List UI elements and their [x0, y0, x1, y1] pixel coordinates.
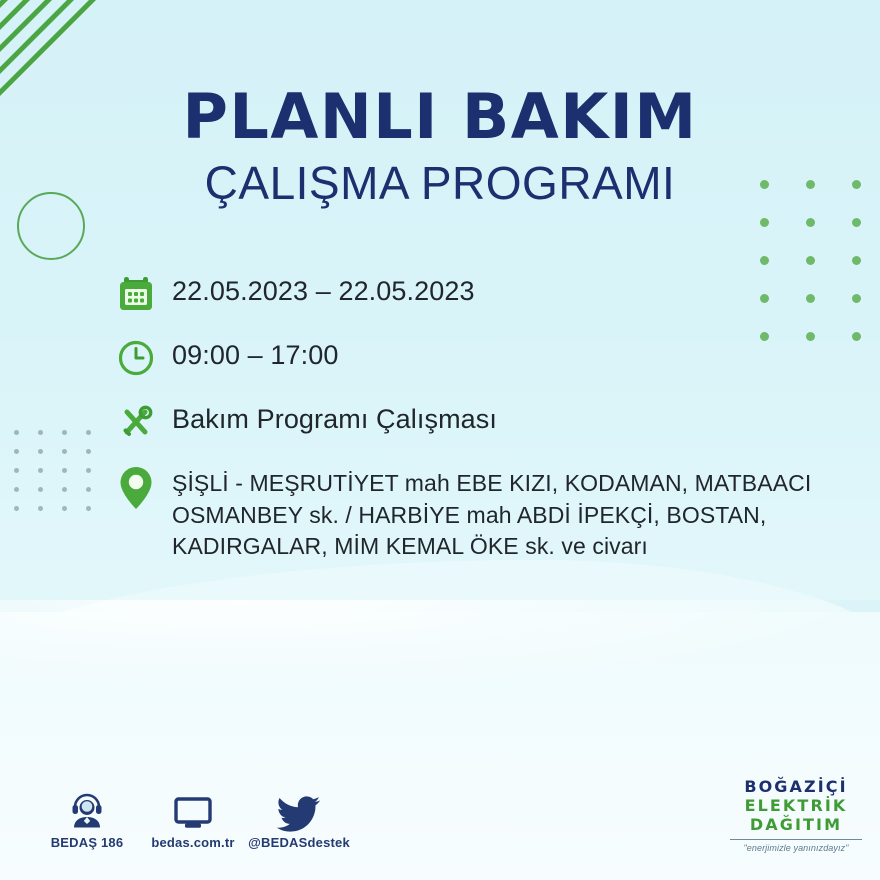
contact-phone-label: BEDAŞ 186: [51, 835, 124, 850]
logo-line-elektrik: ELEKTRİK: [726, 797, 866, 816]
calendar-icon: [116, 272, 172, 314]
title-secondary: ÇALIŞMA PROGRAMI: [0, 160, 880, 206]
call-center-agent-icon: [34, 788, 140, 834]
background-sheen: [0, 600, 880, 690]
title-primary: PLANLI BAKIM: [0, 86, 880, 148]
date-value: 22.05.2023 – 22.05.2023: [172, 272, 475, 308]
logo-line-bogazici: BOĞAZİÇİ: [726, 778, 866, 797]
detail-row-time: 09:00 – 17:00: [116, 336, 816, 378]
contact-website-label: bedas.com.tr: [151, 835, 234, 850]
dot-grid-decoration-left: [14, 430, 110, 525]
clock-icon: [116, 336, 172, 378]
logo-line-dagitim: DAĞITIM: [726, 816, 866, 835]
tools-icon: [116, 400, 172, 442]
contact-phone[interactable]: BEDAŞ 186: [34, 788, 140, 852]
work-type-value: Bakım Programı Çalışması: [172, 400, 497, 436]
map-pin-icon: [116, 464, 172, 512]
contact-twitter-label: @BEDASdestek: [248, 835, 350, 850]
logo-divider: [730, 839, 862, 840]
page-title: PLANLI BAKIM ÇALIŞMA PROGRAMI: [0, 86, 880, 206]
detail-row-location: ŞİŞLİ - MEŞRUTİYET mah EBE KIZI, KODAMAN…: [116, 464, 816, 563]
planned-maintenance-poster: PLANLI BAKIM ÇALIŞMA PROGRAMI: [0, 0, 880, 880]
address-line: KADIRGALAR, MİM KEMAL ÖKE sk. ve civarı: [172, 531, 811, 563]
address-line: OSMANBEY sk. / HARBİYE mah ABDİ İPEKÇİ, …: [172, 500, 811, 532]
twitter-bird-icon: [246, 788, 352, 834]
location-value: ŞİŞLİ - MEŞRUTİYET mah EBE KIZI, KODAMAN…: [172, 464, 811, 563]
footer-contacts: BEDAŞ 186 bedas.com.tr @BEDASdestek: [34, 788, 352, 852]
monitor-icon: [140, 788, 246, 834]
brand-logo: BOĞAZİÇİ ELEKTRİK DAĞITIM "enerjimizle y…: [726, 778, 866, 853]
maintenance-details: 22.05.2023 – 22.05.2023 09:00 – 17:00: [116, 272, 816, 563]
contact-twitter[interactable]: @BEDASdestek: [246, 788, 352, 852]
address-line: ŞİŞLİ - MEŞRUTİYET mah EBE KIZI, KODAMAN…: [172, 468, 811, 500]
detail-row-work-type: Bakım Programı Çalışması: [116, 400, 816, 442]
time-value: 09:00 – 17:00: [172, 336, 338, 372]
detail-row-date: 22.05.2023 – 22.05.2023: [116, 272, 816, 314]
contact-website[interactable]: bedas.com.tr: [140, 788, 246, 852]
logo-tagline: "enerjimizle yanınızdayız": [726, 843, 866, 853]
